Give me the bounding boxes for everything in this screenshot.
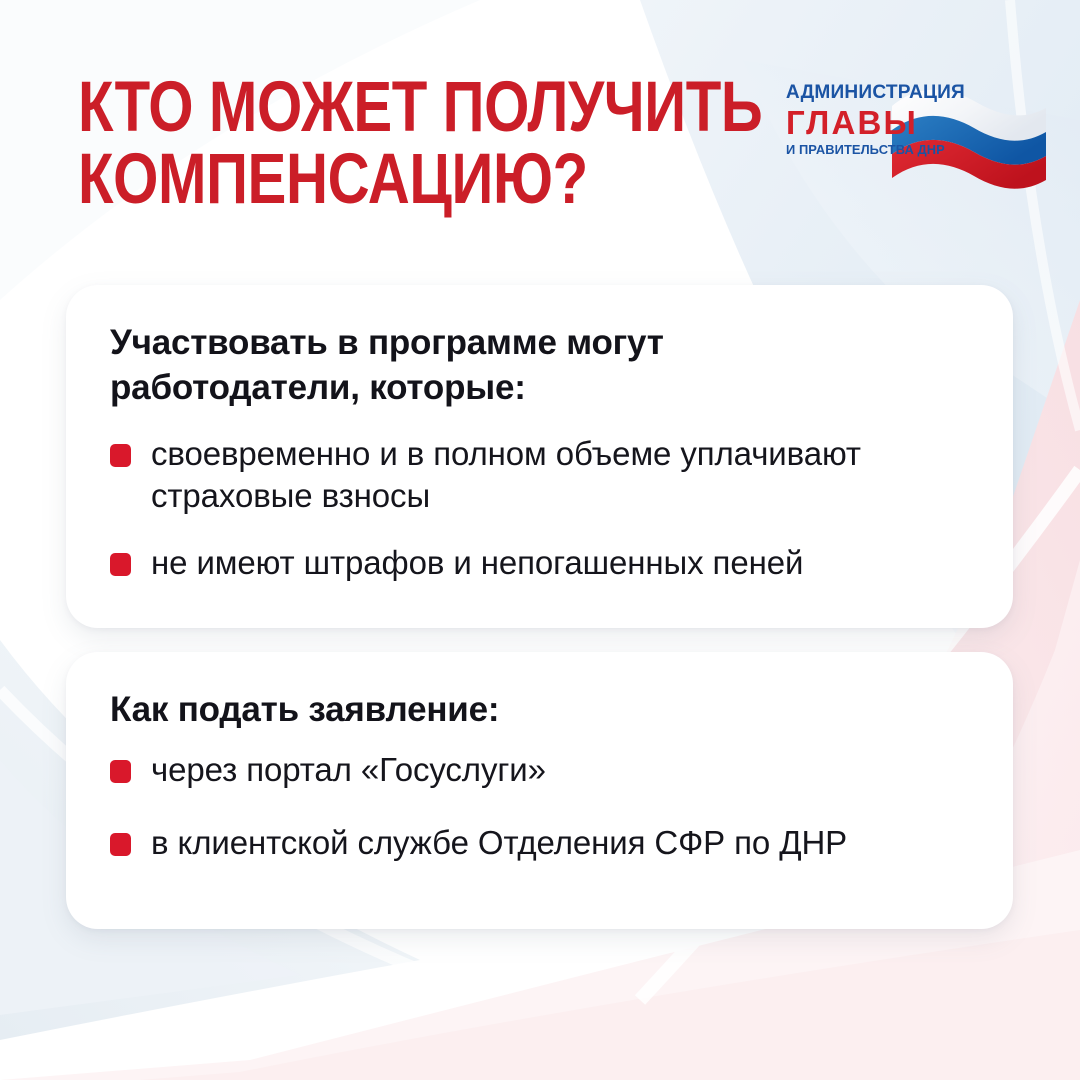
logo-line-1-text: АДМИНИСТРАЦИЯ <box>786 82 965 103</box>
page-title-line-1: КТО МОЖЕТ ПОЛУЧИТЬ <box>78 72 652 144</box>
logo-svg: АДМИНИСТРАЦИЯ ГЛАВЫ И ПРАВИТЕЛЬСТВА ДНР <box>780 76 1052 194</box>
bullet-square-icon <box>110 444 131 467</box>
list-item: не имеют штрафов и непогашенных пеней <box>110 542 969 585</box>
list-item-label: в клиентской службе Отделения СФР по ДНР <box>151 822 847 865</box>
page-title-line-2: КОМПЕНСАЦИЮ? <box>78 144 652 216</box>
list-item: своевременно и в полном объеме уплачиваю… <box>110 433 969 519</box>
how-to-apply-bullet-list: через портал «Госуслуги» в клиентской сл… <box>110 749 969 865</box>
how-to-apply-card-heading: Как подать заявление: <box>110 688 830 733</box>
list-item-label: своевременно и в полном объеме уплачиваю… <box>151 433 969 519</box>
poster-header: КТО МОЖЕТ ПОЛУЧИТЬ КОМПЕНСАЦИЮ? <box>0 0 1080 270</box>
logo-line-3-text: И ПРАВИТЕЛЬСТВА ДНР <box>786 142 945 157</box>
list-item-label: через портал «Госуслуги» <box>151 749 546 792</box>
bullet-square-icon <box>110 760 131 783</box>
list-item: через портал «Госуслуги» <box>110 749 969 792</box>
bullet-square-icon <box>110 553 131 576</box>
eligibility-card-heading: Участвовать в программе могут работодате… <box>110 321 830 411</box>
page-title: КТО МОЖЕТ ПОЛУЧИТЬ КОМПЕНСАЦИЮ? <box>78 72 778 216</box>
eligibility-bullet-list: своевременно и в полном объеме уплачиваю… <box>110 433 969 586</box>
government-logo: АДМИНИСТРАЦИЯ ГЛАВЫ И ПРАВИТЕЛЬСТВА ДНР <box>780 76 1052 194</box>
list-item: в клиентской службе Отделения СФР по ДНР <box>110 822 969 865</box>
logo-line-2-text: ГЛАВЫ <box>786 104 918 141</box>
list-item-label: не имеют штрафов и непогашенных пеней <box>151 542 803 585</box>
eligibility-card: Участвовать в программе могут работодате… <box>66 285 1013 628</box>
how-to-apply-card: Как подать заявление: через портал «Госу… <box>66 652 1013 929</box>
bullet-square-icon <box>110 833 131 856</box>
